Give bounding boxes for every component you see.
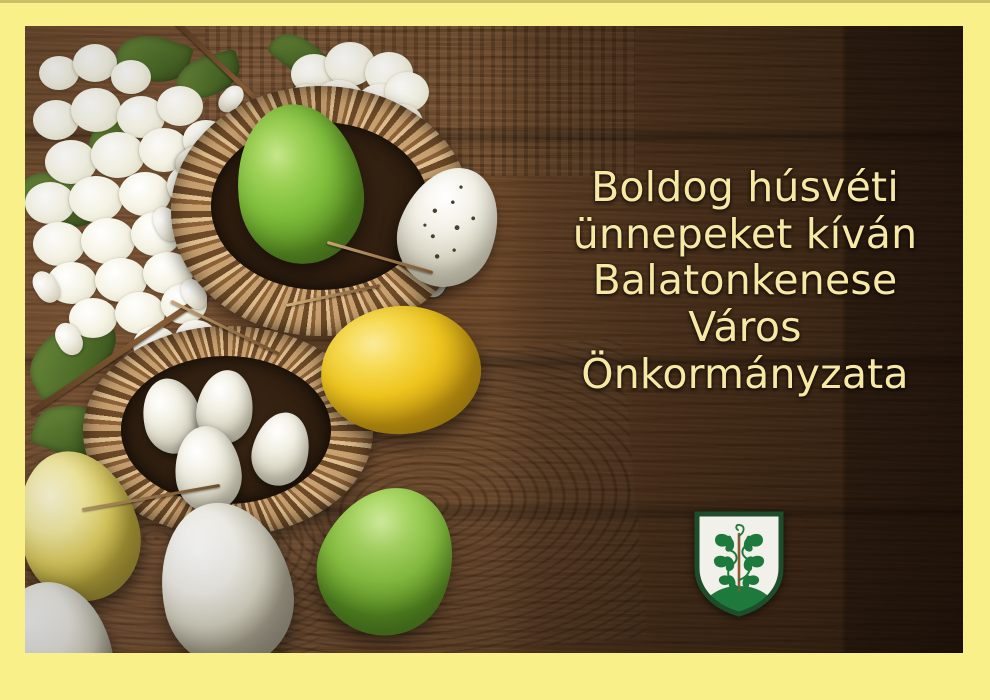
- viburnum-floret: [71, 88, 121, 132]
- coat-of-arms: [693, 510, 785, 618]
- greeting-line-2: ünnepeket kíván: [525, 211, 963, 258]
- viburnum-floret: [81, 218, 135, 264]
- easter-photo: Boldog húsvéti ünnepeket kíván Balatonke…: [25, 26, 963, 653]
- viburnum-floret: [157, 86, 203, 126]
- viburnum-floret: [25, 182, 75, 224]
- viburnum-floret: [91, 132, 145, 178]
- greeting-line-5: Önkormányzata: [525, 351, 963, 398]
- greeting-line-3: Balatonkenese: [525, 257, 963, 304]
- viburnum-floret: [69, 176, 123, 222]
- greeting-line-1: Boldog húsvéti: [525, 164, 963, 211]
- greeting-line-4: Város: [525, 304, 963, 351]
- greeting-text: Boldog húsvéti ünnepeket kíván Balatonke…: [525, 164, 963, 398]
- viburnum-floret: [111, 60, 151, 94]
- viburnum-floret: [33, 222, 85, 266]
- greeting-card: Boldog húsvéti ünnepeket kíván Balatonke…: [0, 0, 990, 700]
